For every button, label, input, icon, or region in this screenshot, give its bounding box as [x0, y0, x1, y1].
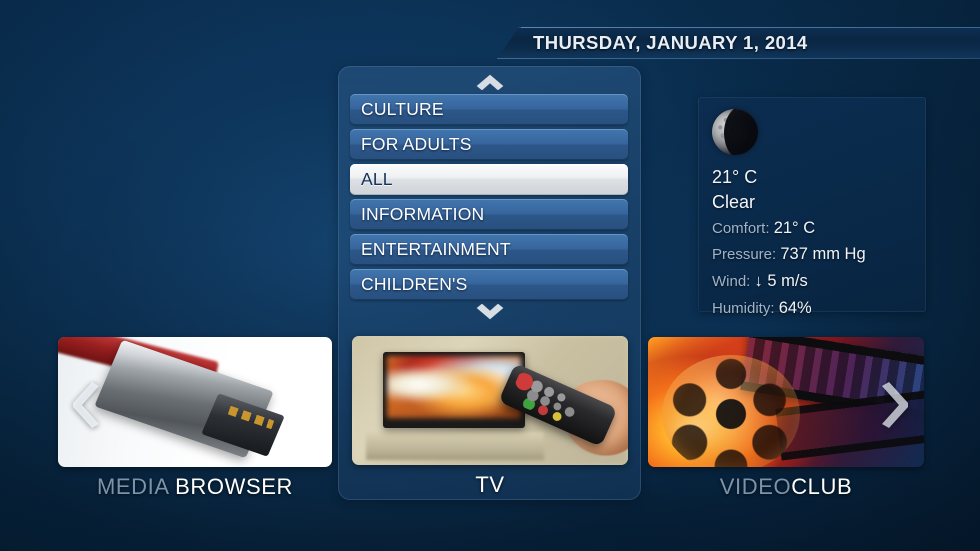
- tile-label-dim: MEDIA: [97, 474, 168, 499]
- weather-pressure-value: 737 mm Hg: [780, 245, 865, 263]
- chevron-up-icon: [473, 70, 507, 90]
- chevron-right-icon: [875, 382, 909, 428]
- weather-wind-value: ↓ 5 m/s: [755, 272, 808, 290]
- menu-item-label: ALL: [361, 169, 393, 190]
- weather-wind-row: Wind: ↓ 5 m/s: [712, 268, 926, 295]
- tile-media-browser-label: MEDIA BROWSER: [58, 474, 332, 500]
- moon-clear-night-icon: [712, 109, 758, 155]
- menu-item-entertainment[interactable]: ENTERTAINMENT: [350, 234, 628, 265]
- menu-item-all[interactable]: ALL: [350, 164, 628, 195]
- date-bar: THURSDAY, JANUARY 1, 2014: [497, 27, 980, 59]
- menu-scroll-down-button[interactable]: [473, 304, 507, 324]
- tile-label-bright: TV: [475, 472, 504, 497]
- tile-tv-label: TV: [352, 472, 628, 498]
- menu-item-childrens[interactable]: CHILDREN'S: [350, 269, 628, 300]
- menu-item-for-adults[interactable]: FOR ADULTS: [350, 129, 628, 160]
- chevron-down-icon: [473, 304, 507, 324]
- weather-wind-label: Wind:: [712, 273, 750, 290]
- weather-widget[interactable]: 21° C Clear Comfort: 21° C Pressure: 737…: [698, 97, 926, 312]
- weather-pressure-row: Pressure: 737 mm Hg: [712, 241, 926, 268]
- menu-item-label: CHILDREN'S: [361, 274, 467, 295]
- chevron-left-icon: [72, 382, 106, 428]
- weather-humidity-label: Humidity:: [712, 300, 775, 317]
- previous-tile-button[interactable]: [72, 382, 106, 428]
- weather-pressure-label: Pressure:: [712, 246, 776, 263]
- weather-comfort-row: Comfort: 21° C: [712, 215, 926, 242]
- weather-humidity-value: 64%: [779, 299, 812, 317]
- date-bar-bottom-rule: [497, 58, 980, 59]
- tile-label-bright: BROWSER: [168, 474, 293, 499]
- next-tile-button[interactable]: [875, 382, 909, 428]
- menu-item-information[interactable]: INFORMATION: [350, 199, 628, 230]
- tile-label-bright: CLUB: [791, 474, 852, 499]
- menu-item-label: CULTURE: [361, 99, 444, 120]
- category-menu-list[interactable]: CULTURE FOR ADULTS ALL INFORMATION ENTER…: [350, 94, 628, 304]
- current-date-label: THURSDAY, JANUARY 1, 2014: [533, 32, 808, 54]
- menu-scroll-up-button[interactable]: [473, 70, 507, 90]
- menu-item-label: INFORMATION: [361, 204, 484, 225]
- tv-screen-shape: [387, 356, 521, 418]
- film-reel-shape: [662, 355, 800, 467]
- tile-label-dim: VIDEO: [720, 474, 791, 499]
- weather-comfort-label: Comfort:: [712, 220, 770, 237]
- tv-home-screen: THURSDAY, JANUARY 1, 2014 CULTURE FOR AD…: [0, 0, 980, 551]
- menu-item-label: FOR ADULTS: [361, 134, 472, 155]
- weather-temperature: 21° C: [712, 165, 926, 190]
- tile-videoclub-label: VIDEOCLUB: [648, 474, 924, 500]
- weather-condition: Clear: [712, 190, 926, 215]
- tile-tv[interactable]: TV: [352, 336, 628, 498]
- weather-comfort-value: 21° C: [774, 219, 815, 237]
- weather-humidity-row: Humidity: 64%: [712, 295, 926, 322]
- tv-thumbnail: [352, 336, 628, 465]
- menu-item-culture[interactable]: CULTURE: [350, 94, 628, 125]
- menu-item-label: ENTERTAINMENT: [361, 239, 511, 260]
- tv-stand-shape: [366, 432, 544, 460]
- date-bar-top-rule: [521, 27, 980, 28]
